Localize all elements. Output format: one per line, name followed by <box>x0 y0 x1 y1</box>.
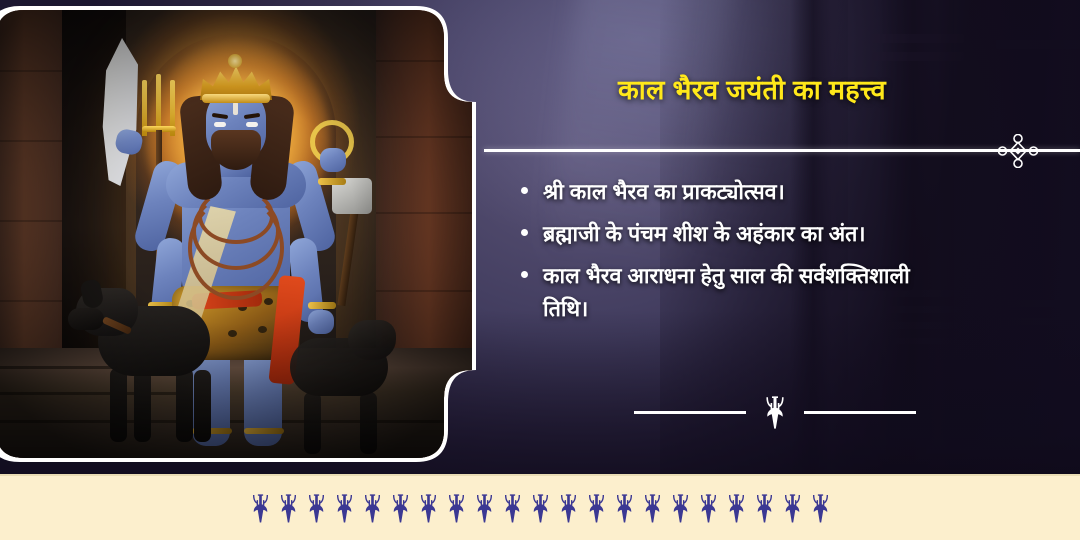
trishul-border-icon <box>782 493 803 523</box>
trishul-border-icon <box>810 493 831 523</box>
trishul-divider <box>630 395 920 429</box>
strip-top-edge <box>0 474 1080 476</box>
trishul-border-icon <box>558 493 579 523</box>
poster-canvas: काल भैरव जयंती का महत्त्व श्री काल भैरव … <box>0 0 1080 540</box>
image-vignette <box>0 10 472 458</box>
trishul-border-row <box>0 486 1080 530</box>
trishul-border-icon <box>670 493 691 523</box>
trishul-divider-icon <box>756 395 794 429</box>
deity-illustration <box>0 10 472 458</box>
trishul-border-icon <box>334 493 355 523</box>
trishul-border-icon <box>586 493 607 523</box>
trishul-border-icon <box>754 493 775 523</box>
list-item: ब्रह्माजी के पंचम शीश के अहंकार का अंत। <box>518 218 1038 251</box>
trishul-border-icon <box>642 493 663 523</box>
trishul-border-icon <box>362 493 383 523</box>
trishul-border-icon <box>250 493 271 523</box>
trishul-border-icon <box>390 493 411 523</box>
trishul-border-icon <box>278 493 299 523</box>
bullet-dot-icon <box>521 229 528 236</box>
trishul-border-icon <box>502 493 523 523</box>
divider-line-left <box>634 411 746 414</box>
bullet-list: श्री काल भैरव का प्राकट्योत्सव। ब्रह्माज… <box>518 176 1038 335</box>
bullet-text: काल भैरव आराधना हेतु साल की सर्वशक्तिशाल… <box>543 260 913 326</box>
trishul-border-icon <box>418 493 439 523</box>
divider-line-right <box>804 411 916 414</box>
list-item: श्री काल भैरव का प्राकट्योत्सव। <box>518 176 1038 209</box>
trishul-border-icon <box>446 493 467 523</box>
bullet-text: ब्रह्माजी के पंचम शीश के अहंकार का अंत। <box>543 218 866 251</box>
list-item: काल भैरव आराधना हेतु साल की सर्वशक्तिशाल… <box>518 260 1038 326</box>
trishul-border-icon <box>614 493 635 523</box>
trishul-border-icon <box>698 493 719 523</box>
deity-image-panel <box>0 6 476 462</box>
decorative-knot-ornament <box>998 134 1038 168</box>
bullet-dot-icon <box>521 271 528 278</box>
trishul-border-icon <box>474 493 495 523</box>
bullet-dot-icon <box>521 187 528 194</box>
trishul-border-icon <box>530 493 551 523</box>
bullet-text: श्री काल भैरव का प्राकट्योत्सव। <box>543 176 785 209</box>
title-underline <box>484 149 1080 152</box>
trishul-border-icon <box>306 493 327 523</box>
trishul-border-icon <box>726 493 747 523</box>
page-title: काल भैरव जयंती का महत्त्व <box>492 70 1012 107</box>
